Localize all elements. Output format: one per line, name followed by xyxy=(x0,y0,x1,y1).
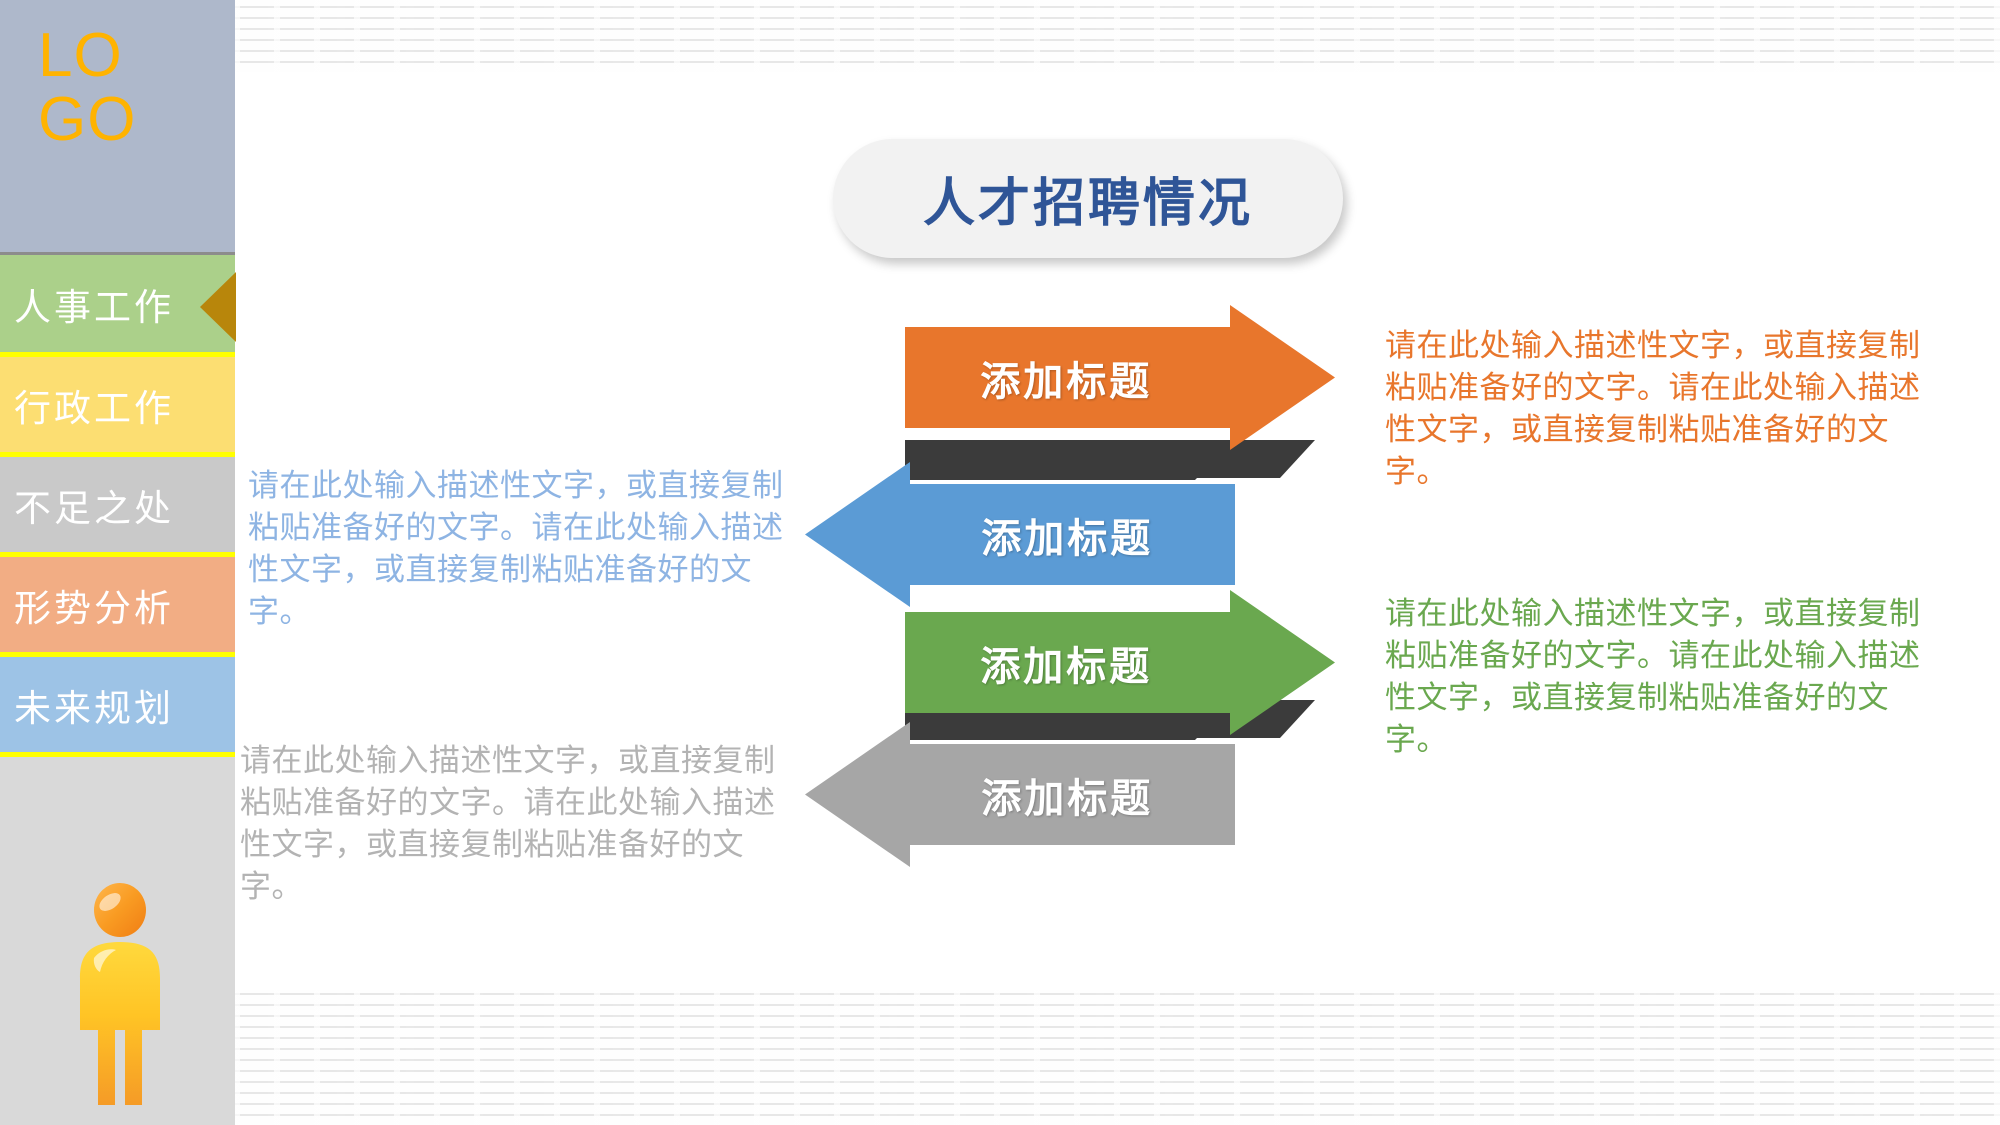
arrow-label: 添加标题 xyxy=(905,305,1228,450)
arrow-label: 添加标题 xyxy=(900,722,1235,867)
logo-panel: LOGO xyxy=(0,0,235,252)
arrow-4[interactable]: 添加标题 xyxy=(805,722,1235,867)
sidebar-item-xingzhenggongzuo[interactable]: 行政工作 xyxy=(0,357,235,452)
bottom-texture-band xyxy=(0,990,2000,1125)
arrow-label: 添加标题 xyxy=(905,590,1228,735)
top-texture-band xyxy=(0,0,2000,72)
paragraph-green: 请在此处输入描述性文字，或直接复制粘贴准备好的文字。请在此处输入描述性文字，或直… xyxy=(1385,593,1930,762)
paragraph-gray: 请在此处输入描述性文字，或直接复制粘贴准备好的文字。请在此处输入描述性文字，或直… xyxy=(240,740,785,909)
sidebar-item-label: 行政工作 xyxy=(14,378,174,432)
sidebar-item-xingshifenxi[interactable]: 形势分析 xyxy=(0,557,235,652)
paragraph-orange: 请在此处输入描述性文字，或直接复制粘贴准备好的文字。请在此处输入描述性文字，或直… xyxy=(1385,325,1930,494)
arrow-2[interactable]: 添加标题 xyxy=(805,462,1235,607)
person-icon xyxy=(60,880,180,1125)
sidebar-item-label: 人事工作 xyxy=(14,277,174,331)
logo-text: LOGO xyxy=(38,24,158,152)
active-nav-pointer-icon xyxy=(200,272,236,342)
arrow-label: 添加标题 xyxy=(900,462,1235,607)
sidebar-separator-5 xyxy=(0,752,235,757)
arrow-1[interactable]: 添加标题 xyxy=(905,305,1335,450)
sidebar-item-label: 形势分析 xyxy=(14,578,174,632)
arrow-3[interactable]: 添加标题 xyxy=(905,590,1335,735)
sidebar: LOGO 人事工作 行政工作 不足之处 形势分析 未来规划 xyxy=(0,0,235,1125)
sidebar-item-weilaiguihua[interactable]: 未来规划 xyxy=(0,657,235,752)
slide-title-pill: 人才招聘情况 xyxy=(833,139,1343,258)
slide-canvas: LOGO 人事工作 行政工作 不足之处 形势分析 未来规划 xyxy=(0,0,2000,1125)
page-title: 人才招聘情况 xyxy=(923,161,1253,236)
sidebar-item-buzuzhichu[interactable]: 不足之处 xyxy=(0,457,235,552)
paragraph-blue: 请在此处输入描述性文字，或直接复制粘贴准备好的文字。请在此处输入描述性文字，或直… xyxy=(248,465,793,634)
sidebar-item-label: 未来规划 xyxy=(14,678,174,732)
sidebar-item-label: 不足之处 xyxy=(14,478,174,532)
